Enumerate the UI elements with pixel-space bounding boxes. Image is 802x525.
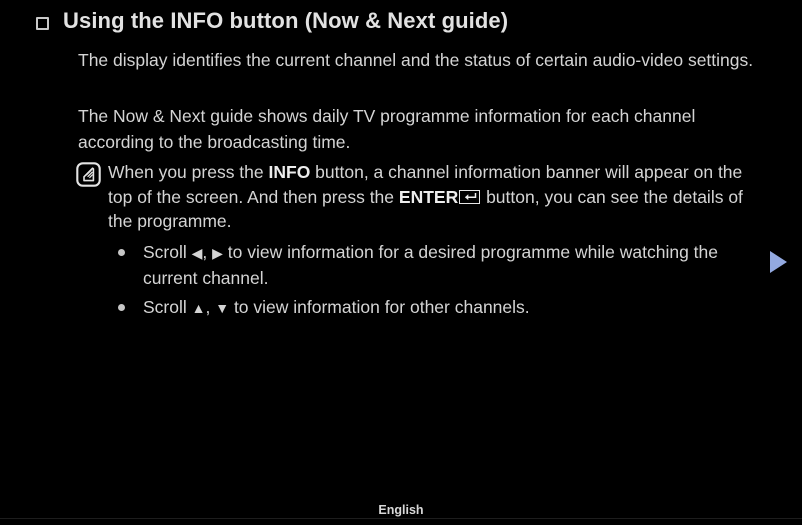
footer-language-label: English (0, 503, 802, 517)
list-item: Scroll ◀, ▶ to view information for a de… (118, 240, 758, 290)
bottom-divider (0, 518, 802, 519)
up-arrow-icon: ▲ (192, 300, 206, 316)
right-triangle-icon[interactable] (770, 251, 787, 273)
scroll-prefix: Scroll (143, 297, 192, 317)
note-block: When you press the INFO button, a channe… (76, 160, 756, 234)
note-text-part1: When you press the (108, 162, 269, 182)
scroll-suffix: to view information for other channels. (229, 297, 530, 317)
arrow-separator: , (205, 297, 215, 317)
list-item-text: Scroll ◀, ▶ to view information for a de… (143, 240, 758, 290)
info-button-label: INFO (269, 162, 311, 182)
note-text: When you press the INFO button, a channe… (108, 160, 756, 234)
scroll-suffix: to view information for a desired progra… (143, 242, 718, 288)
arrow-separator: , (202, 242, 212, 262)
sub-bullet-list: Scroll ◀, ▶ to view information for a de… (118, 240, 758, 326)
enter-return-key-icon (459, 190, 480, 204)
left-arrow-icon: ◀ (192, 245, 203, 261)
dot-icon (118, 249, 125, 256)
down-arrow-icon: ▼ (215, 300, 229, 316)
scroll-prefix: Scroll (143, 242, 192, 262)
e-manual-screen: Using the INFO button (Now & Next guide)… (0, 0, 802, 525)
page-title: Using the INFO button (Now & Next guide) (36, 8, 508, 34)
intro-paragraph-2: The Now & Next guide shows daily TV prog… (78, 103, 756, 155)
list-item: Scroll ▲, ▼ to view information for othe… (118, 295, 758, 321)
page-title-text: Using the INFO button (Now & Next guide) (63, 8, 508, 34)
intro-paragraph-1: The display identifies the current chann… (78, 47, 756, 73)
note-pen-icon (76, 162, 101, 187)
right-arrow-icon: ▶ (212, 245, 223, 261)
square-outline-icon (36, 17, 49, 30)
enter-button-label: ENTER (399, 187, 458, 207)
dot-icon (118, 304, 125, 311)
list-item-text: Scroll ▲, ▼ to view information for othe… (143, 295, 758, 321)
